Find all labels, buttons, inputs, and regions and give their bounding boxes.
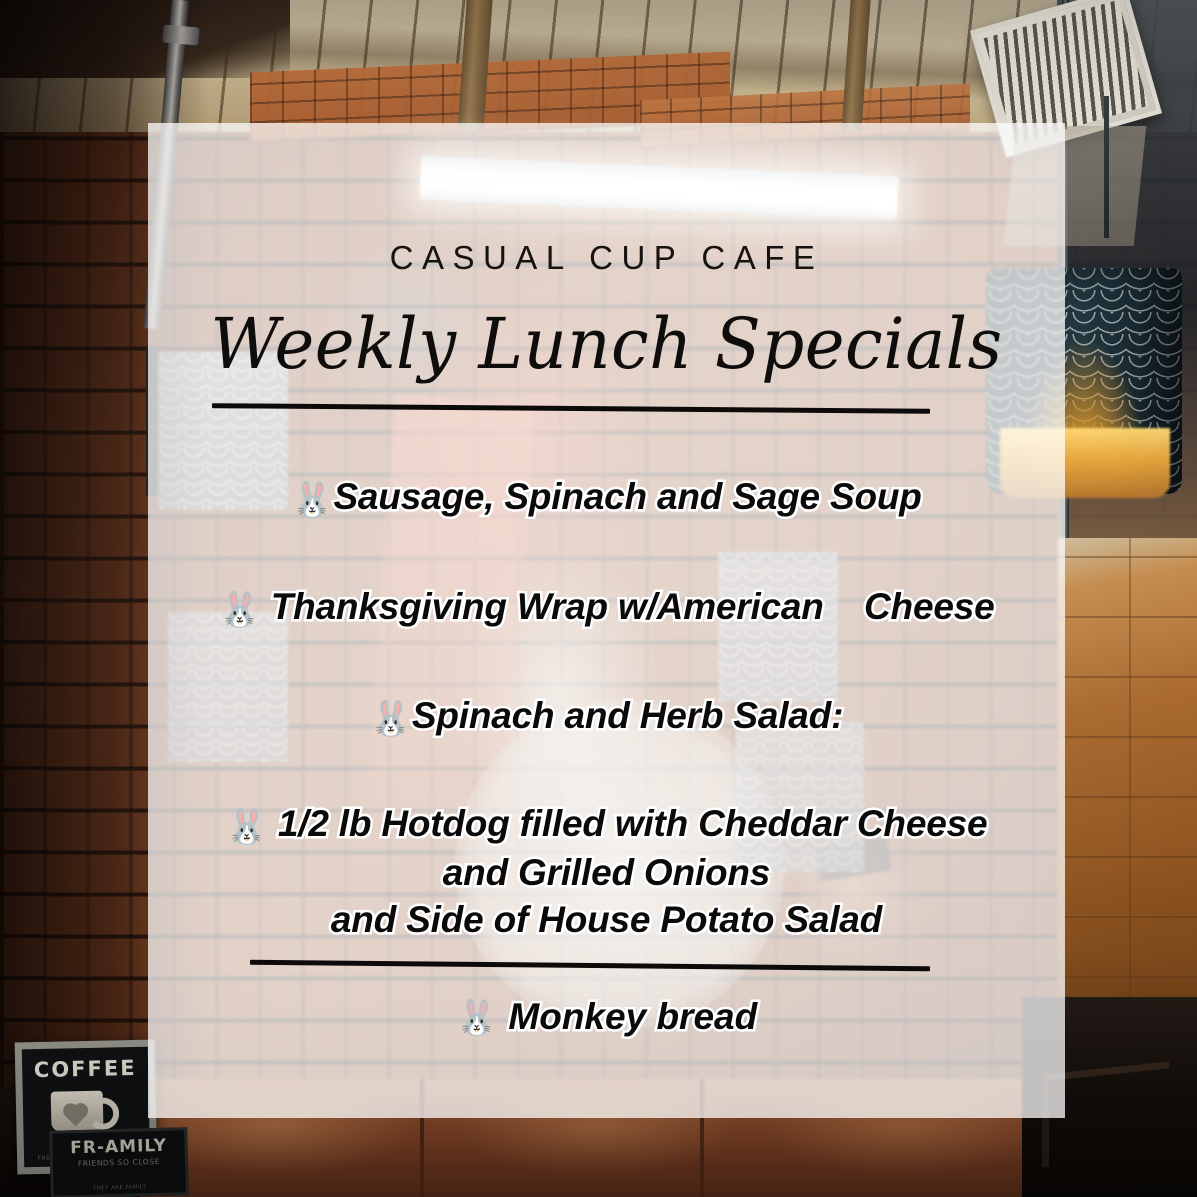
divider-top	[212, 403, 930, 414]
headline: Weekly Lunch Specials	[166, 303, 1046, 385]
list-item-label: Spinach and Herb Salad:	[412, 695, 843, 736]
rabbit-icon: 🐰	[370, 699, 412, 739]
menu-poster: COFFEE FRESHLY BREWED EVERY DAY FR-AMILY…	[0, 0, 1197, 1197]
list-item-label: Thanksgiving Wrap w/American Cheese	[271, 586, 995, 627]
list-item: 🐰Sausage, Spinach and Sage Soup	[148, 473, 1065, 523]
dessert-item-label: Monkey bread	[508, 996, 757, 1037]
framily-sign-subtitle-2: THEY ARE FAMILY	[54, 1183, 186, 1192]
menu-items-list: 🐰Sausage, Spinach and Sage Soup 🐰 Thanks…	[148, 473, 1065, 944]
rabbit-icon: 🐰	[456, 998, 498, 1038]
list-item: 🐰 Thanksgiving Wrap w/American Cheese	[148, 583, 1065, 633]
list-item: 🐰 1/2 lb Hotdog filled with Cheddar Chee…	[148, 800, 1065, 944]
list-item: 🐰Spinach and Herb Salad:	[148, 692, 1065, 742]
pendant-lamp-cord	[1104, 96, 1109, 238]
framily-framed-sign: FR-AMILY FRIENDS SO CLOSE THEY ARE FAMIL…	[49, 1127, 189, 1197]
dessert-item: 🐰 Monkey bread	[148, 996, 1065, 1038]
list-item-label: 1/2 lb Hotdog filled with Cheddar Cheese…	[278, 803, 987, 941]
framily-sign-title: FR-AMILY	[52, 1135, 184, 1158]
page-title: CASUAL CUP CAFE	[148, 239, 1065, 277]
menu-card-overlay: CASUAL CUP CAFE Weekly Lunch Specials 🐰S…	[148, 123, 1065, 1118]
list-item-label: Sausage, Spinach and Sage Soup	[333, 476, 921, 517]
rabbit-icon: 🐰	[291, 480, 333, 520]
divider-bottom	[250, 960, 930, 972]
rabbit-icon: 🐰	[226, 807, 268, 847]
coffee-sign-title: COFFEE	[22, 1056, 148, 1083]
rabbit-icon: 🐰	[219, 590, 261, 630]
